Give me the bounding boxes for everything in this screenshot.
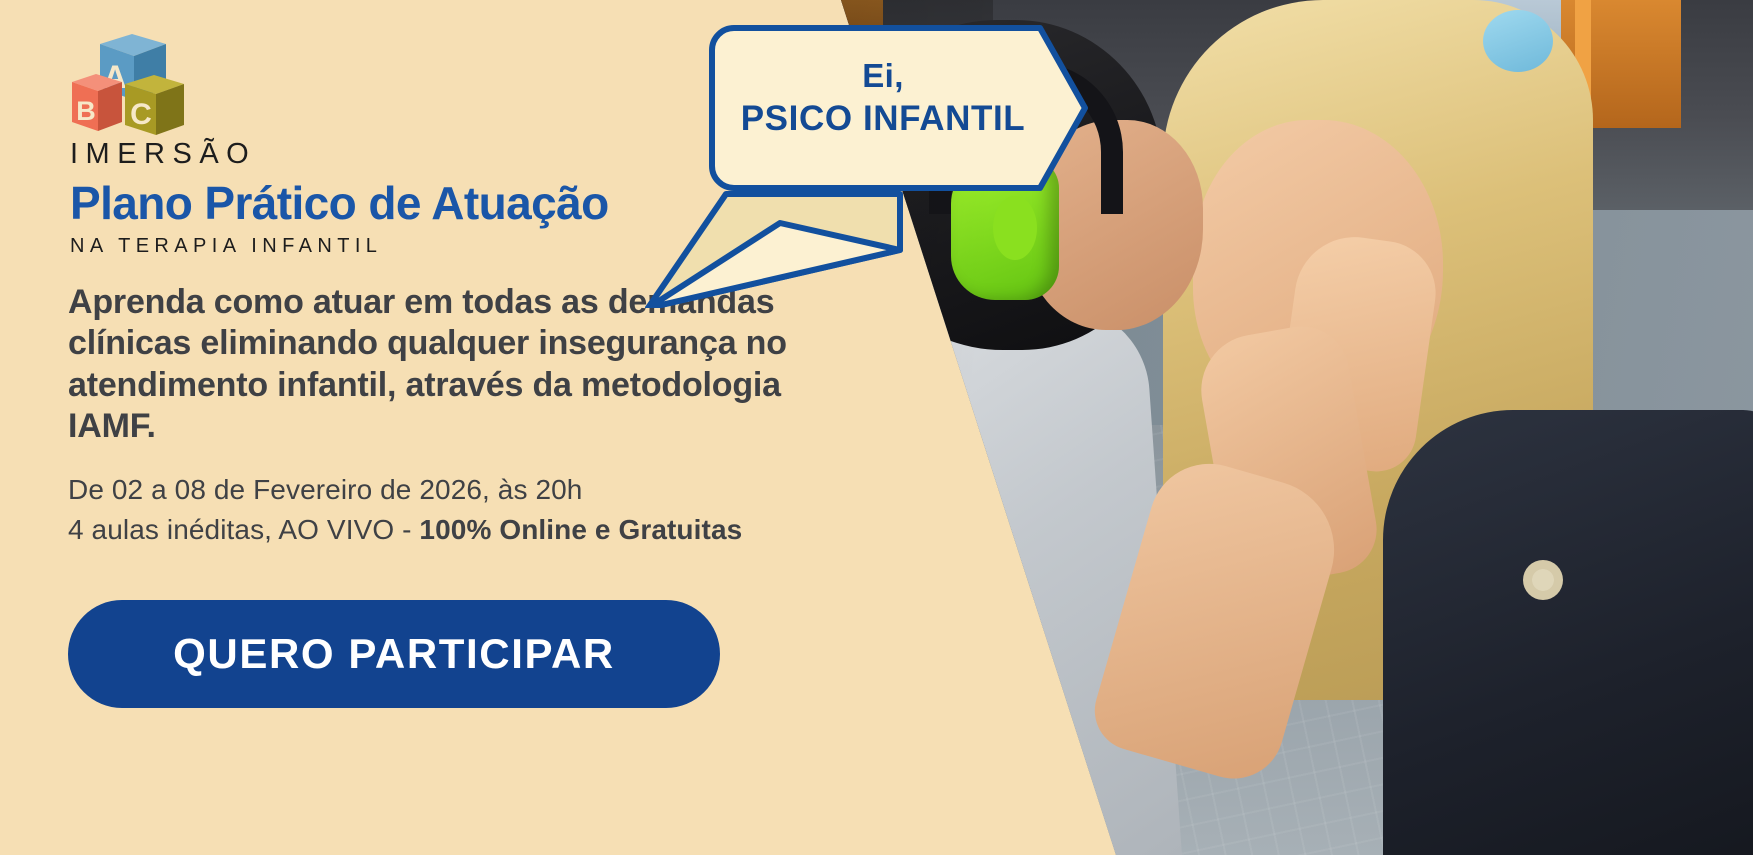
svg-text:B: B <box>76 96 96 126</box>
promo-banner: A B C IMERSÃO Plano Prático de Atuação N… <box>0 0 1753 855</box>
abc-blocks-icon: A B C <box>70 30 186 136</box>
event-classes-line: 4 aulas inéditas, AO VIVO - 100% Online … <box>68 510 898 550</box>
svg-text:C: C <box>130 98 152 131</box>
abc-blocks-logo: A B C <box>70 30 186 136</box>
speech-bubble-shape <box>630 18 1090 308</box>
classes-highlight: 100% Online e Gratuitas <box>419 514 742 545</box>
event-details: De 02 a 08 de Fevereiro de 2026, às 20h … <box>68 470 898 550</box>
classes-prefix: 4 aulas inéditas, AO VIVO - <box>68 514 419 545</box>
speech-bubble: Ei, PSICO INFANTIL <box>630 18 1090 308</box>
event-date-line: De 02 a 08 de Fevereiro de 2026, às 20h <box>68 470 898 510</box>
cta-quero-participar-button[interactable]: QUERO PARTICIPAR <box>68 600 720 708</box>
